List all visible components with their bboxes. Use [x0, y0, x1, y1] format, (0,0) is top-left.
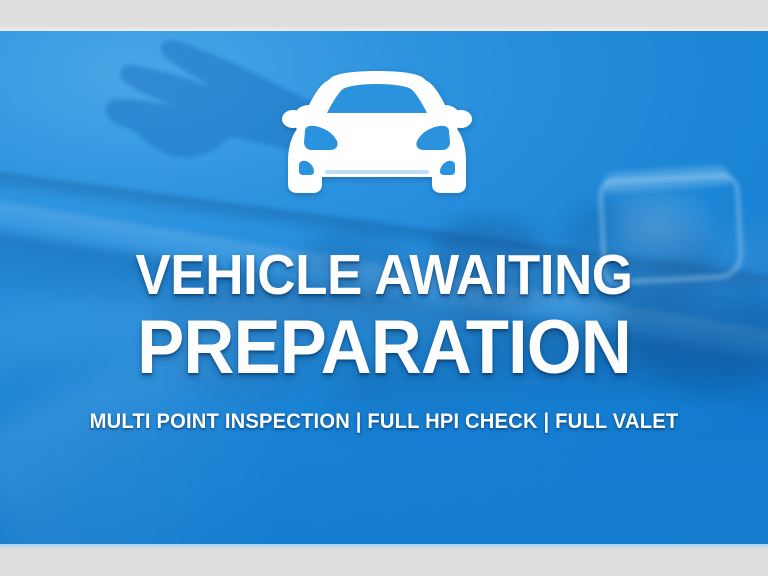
car-front-icon — [281, 53, 473, 205]
vehicle-preparation-banner: VEHICLE AWAITING PREPARATION MULTI POINT… — [0, 31, 768, 546]
headline-line-1: VEHICLE AWAITING — [27, 246, 741, 304]
feature-subtitle: MULTI POINT INSPECTION | FULL HPI CHECK … — [15, 410, 752, 434]
screenshot-viewport: VEHICLE AWAITING PREPARATION MULTI POINT… — [0, 0, 768, 576]
letterbox-bar-bottom — [0, 548, 768, 576]
headline-line-2: PREPARATION — [27, 309, 741, 387]
